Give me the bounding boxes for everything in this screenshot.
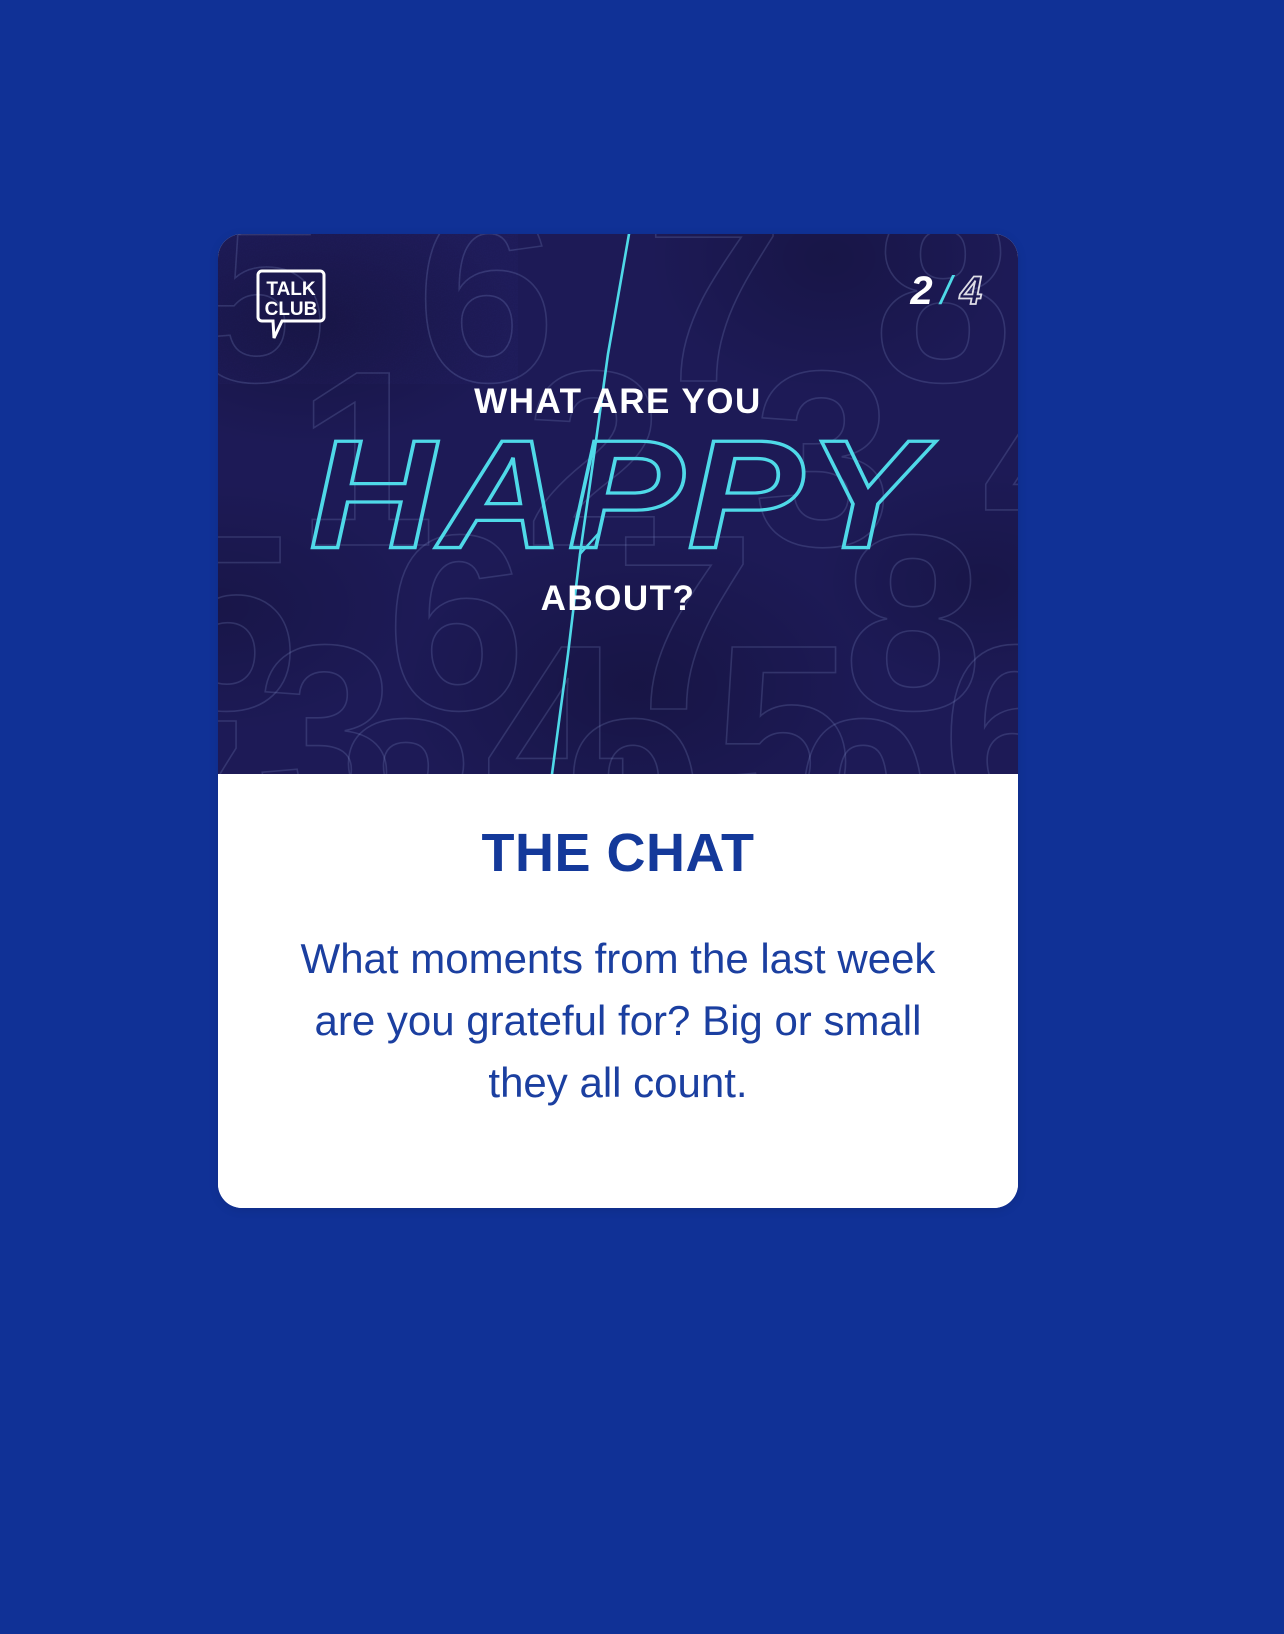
numeral-row: 2 3 4 5 6: [218, 630, 1018, 774]
card-body: THE CHAT What moments from the last week…: [218, 774, 1018, 1208]
card-counter: 2 / 4: [910, 271, 982, 311]
headline-tail: ABOUT?: [218, 579, 1018, 619]
counter-total: 4: [960, 271, 982, 311]
card-header: 5 6 7 8 9 0 1 2 3 4 5 6 7 8 9 2 3 4 5 6 …: [218, 234, 1018, 774]
logo-line-1: TALK: [266, 279, 316, 300]
prompt-text: What moments from the last week are you …: [218, 880, 1018, 1114]
talk-club-logo[interactable]: TALK CLUB: [256, 268, 326, 348]
logo-line-2: CLUB: [265, 299, 318, 320]
counter-separator: /: [939, 271, 954, 311]
headline-keyword: HAPPY: [218, 417, 1018, 572]
counter-current: 2: [910, 271, 932, 311]
prompt-card: 5 6 7 8 9 0 1 2 3 4 5 6 7 8 9 2 3 4 5 6 …: [218, 234, 1018, 1208]
numeral-row: 7 8 9 0 1: [218, 704, 1018, 774]
page-background: 5 6 7 8 9 0 1 2 3 4 5 6 7 8 9 2 3 4 5 6 …: [0, 0, 1284, 1634]
numeral-row: 5 6 7 8 9: [218, 234, 1018, 397]
section-title: THE CHAT: [218, 774, 1018, 880]
